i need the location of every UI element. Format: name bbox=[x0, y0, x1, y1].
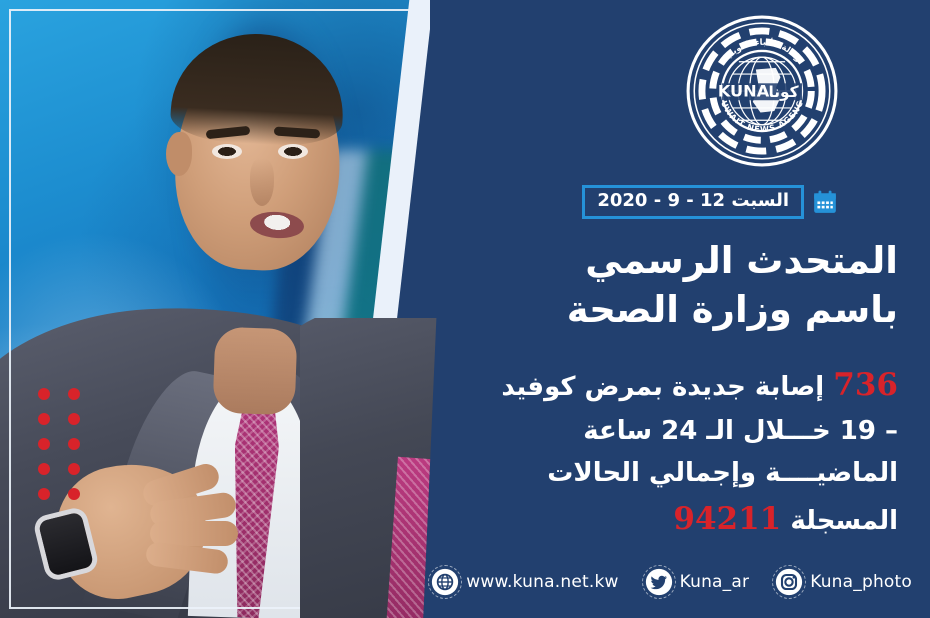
body-text: 736 إصابة جديدة بمرض كوفيد – 19 خـــلال … bbox=[486, 360, 898, 545]
neck bbox=[213, 327, 298, 416]
social-label-twitter: Kuna_ar bbox=[680, 572, 750, 592]
dot bbox=[68, 463, 80, 475]
page-title: المتحدث الرسمي باسم وزارة الصحة bbox=[458, 236, 898, 334]
social-link-website[interactable]: www.kuna.net.kw bbox=[431, 568, 618, 596]
date-text: السبت 12 - 9 - 2020 bbox=[582, 185, 804, 219]
dot bbox=[38, 388, 50, 400]
body-segment-1: إصابة جديدة بمرض bbox=[585, 372, 825, 402]
nose bbox=[250, 158, 274, 206]
social-footer: Kuna_photo Kuna_ar bbox=[430, 568, 930, 596]
calendar-icon bbox=[812, 189, 838, 215]
dot bbox=[68, 488, 80, 500]
social-label-instagram: Kuna_photo bbox=[810, 572, 912, 592]
eye-left bbox=[212, 144, 242, 159]
globe-icon bbox=[431, 568, 459, 596]
news-graphic-card: KUNA كونا وكالة الأنباء الكويتية KUWAIT … bbox=[0, 0, 930, 618]
headline-line-2: باسم وزارة الصحة bbox=[458, 285, 898, 334]
dot bbox=[38, 413, 50, 425]
dot bbox=[38, 438, 50, 450]
social-link-instagram[interactable]: Kuna_photo bbox=[775, 568, 912, 596]
dot bbox=[38, 488, 50, 500]
eye-right bbox=[278, 144, 308, 159]
headline-line-1: المتحدث الرسمي bbox=[458, 236, 898, 285]
date-badge: السبت 12 - 9 - 2020 bbox=[582, 185, 838, 219]
social-link-twitter[interactable]: Kuna_ar bbox=[645, 568, 750, 596]
logo-text-en: KUNA bbox=[718, 81, 770, 100]
twitter-icon bbox=[645, 568, 673, 596]
social-label-website: www.kuna.net.kw bbox=[466, 572, 618, 592]
ear bbox=[166, 132, 192, 176]
red-dot-decoration bbox=[38, 388, 80, 500]
hair bbox=[169, 30, 347, 149]
dot bbox=[68, 438, 80, 450]
new-cases-count: 736 bbox=[833, 367, 898, 403]
panel-content: KUNA كونا وكالة الأنباء الكويتية KUWAIT … bbox=[430, 0, 930, 618]
total-cases-count: 94211 bbox=[673, 501, 781, 537]
instagram-icon bbox=[775, 568, 803, 596]
dot bbox=[68, 413, 80, 425]
dot bbox=[38, 463, 50, 475]
kuna-logo: KUNA كونا وكالة الأنباء الكويتية KUWAIT … bbox=[685, 14, 839, 168]
logo-text-ar: كونا bbox=[768, 83, 798, 101]
dot bbox=[68, 388, 80, 400]
